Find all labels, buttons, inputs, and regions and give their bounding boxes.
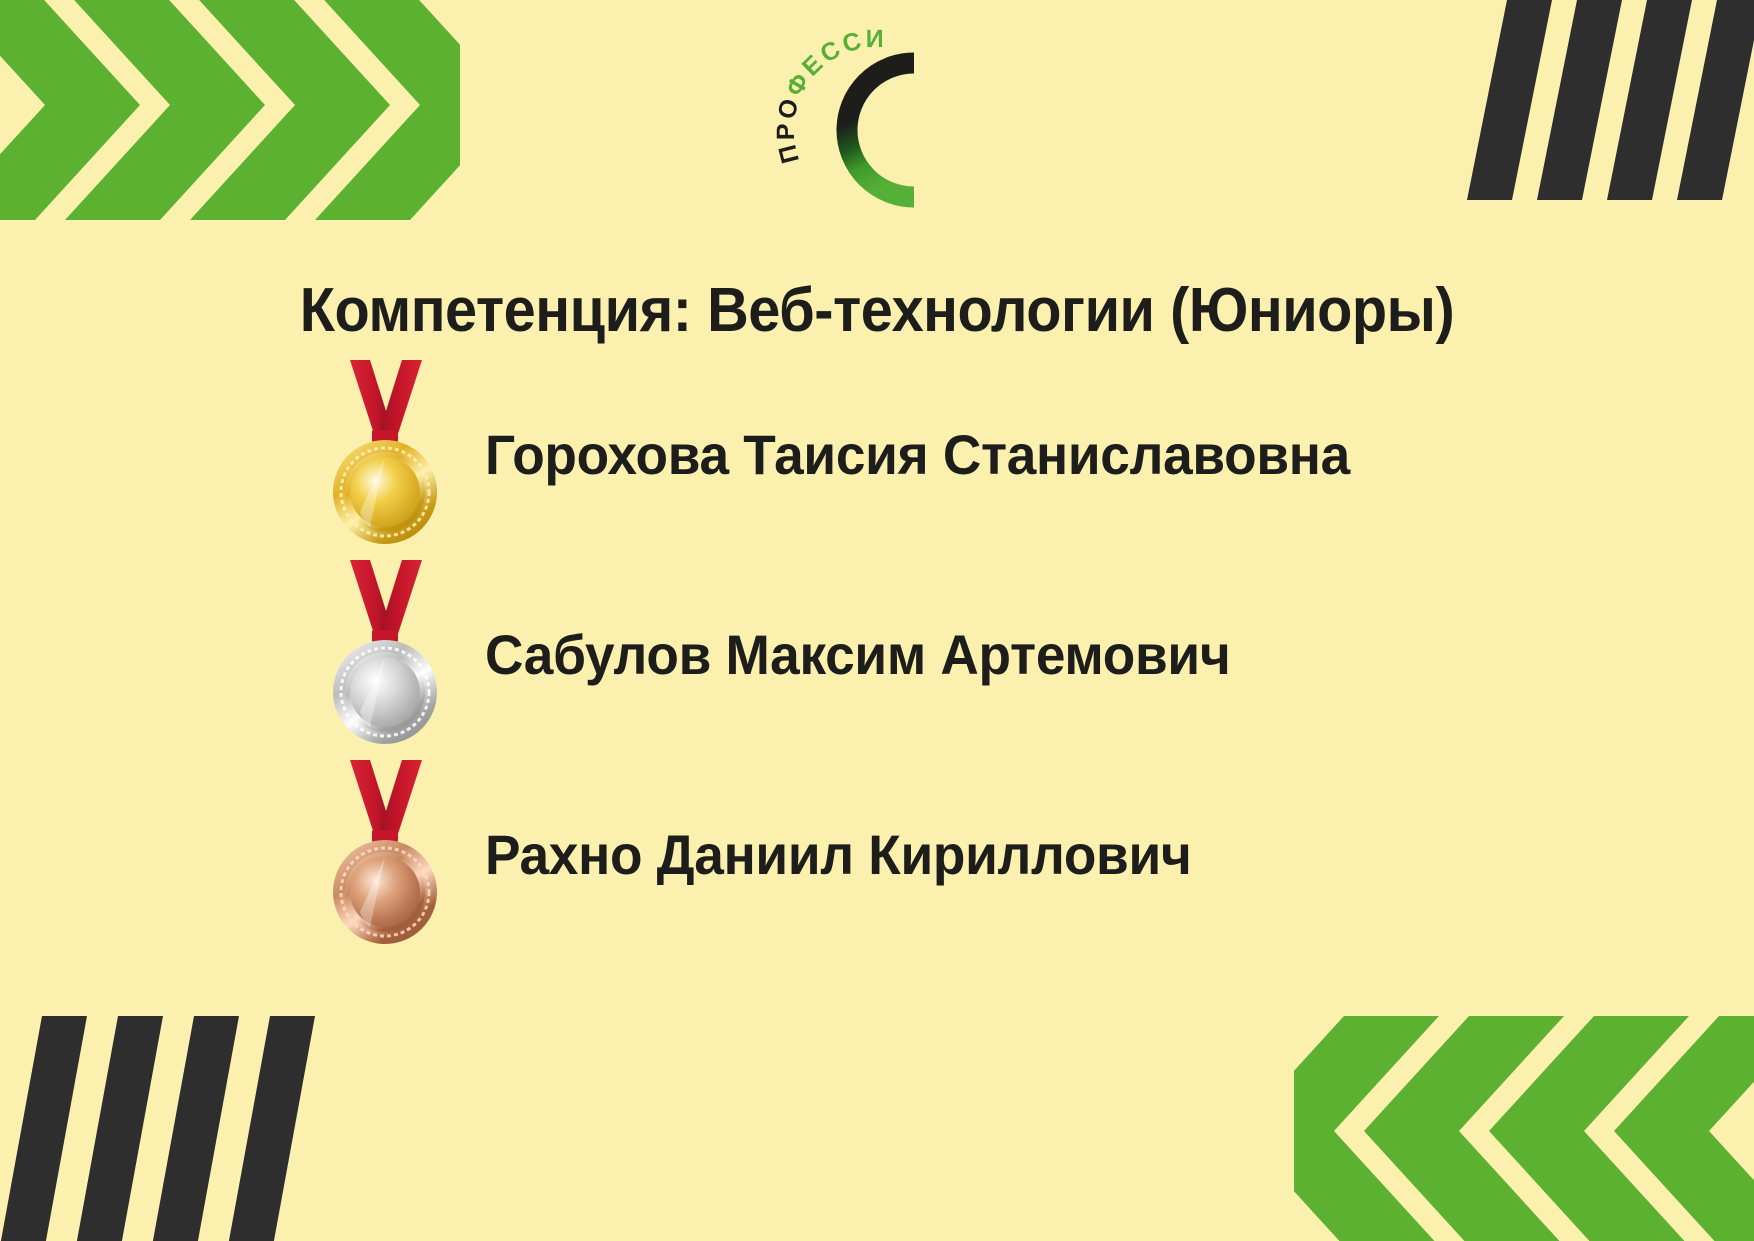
logo-arc [847,63,914,197]
results-slide: ПРОФЕССИОНАЛЫ Компетенция: Веб-технологи… [0,0,1754,1241]
winner-row-gold: Горохова Таисия Станиславовна [330,352,1530,552]
winner-name-silver: Сабулов Максим Артемович [485,622,1230,687]
winner-name-bronze: Рахно Даниил Кириллович [485,822,1191,887]
winner-name-gold: Горохова Таисия Станиславовна [485,422,1350,487]
bronze-medal-icon [330,752,440,952]
winners-list: Горохова Таисия Станиславовна [330,352,1530,952]
page-title: Компетенция: Веб-технологии (Юниоры) [61,275,1692,346]
gold-medal-icon [330,352,440,552]
decoration-top-right-dark-stripes [1464,0,1754,205]
professionals-logo: ПРОФЕССИОНАЛЫ [762,12,992,227]
winner-row-bronze: Рахно Даниил Кириллович [330,752,1530,952]
decoration-bottom-right-green-chevrons [1294,1016,1754,1241]
winner-row-silver: Сабулов Максим Артемович [330,552,1530,752]
decoration-bottom-left-dark-stripes [0,1016,320,1241]
decoration-top-left-green-chevrons [0,0,460,225]
silver-medal-icon [330,552,440,752]
